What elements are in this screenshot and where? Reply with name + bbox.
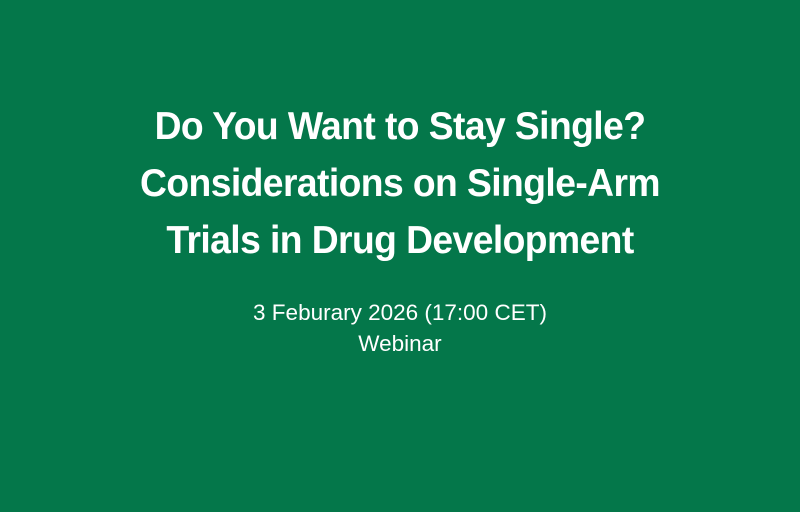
event-title-line-3: Trials in Drug Development [75, 212, 724, 269]
event-details: 3 Feburary 2026 (17:00 CET) Webinar [100, 297, 700, 359]
event-title-line-1: Do You Want to Stay Single? [75, 98, 724, 155]
event-title-line-2: Considerations on Single-Arm [75, 155, 724, 212]
event-date-time: 3 Feburary 2026 (17:00 CET) [100, 297, 700, 328]
event-title: Do You Want to Stay Single? Consideratio… [60, 98, 740, 269]
event-promo-banner: Do You Want to Stay Single? Consideratio… [0, 0, 800, 512]
event-format: Webinar [100, 328, 700, 359]
